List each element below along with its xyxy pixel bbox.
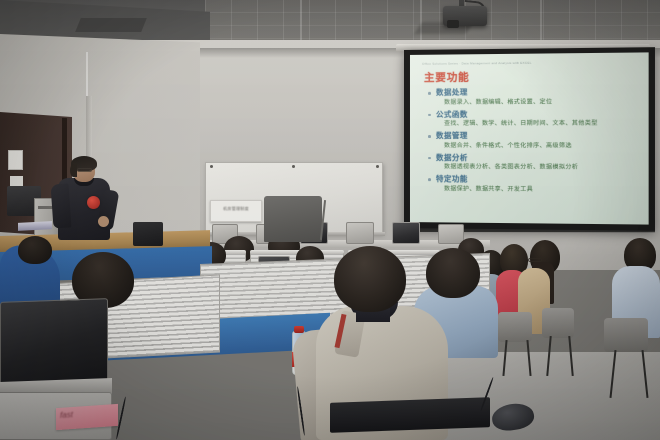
slide-header-text: Office Solutions Series · Data Managemen…	[422, 60, 638, 66]
classroom-photo: Office Solutions Series · Data Managemen…	[0, 0, 660, 440]
projection-screen: Office Solutions Series · Data Managemen…	[404, 47, 655, 231]
slide-section-detail: 数据保护、数据共享、开发工具	[428, 185, 642, 196]
presenter-chair	[264, 196, 322, 242]
slide-section: 公式函数 查找、逻辑、数学、统计、日期时间、文本、其他类型	[428, 109, 642, 130]
podium-second-monitor	[133, 222, 163, 246]
attendee-head	[426, 248, 480, 298]
slide-title: 主要功能	[424, 69, 470, 84]
slide-section-detail: 数据透视表分析、各类图表分析、数据模拟分析	[428, 163, 642, 173]
slide-section-heading: 数据分析	[428, 153, 642, 164]
slide-section-heading: 数据处理	[428, 86, 642, 98]
chair	[542, 308, 574, 338]
slide-section-detail: 数据录入、数据编辑、格式设置、定位	[428, 97, 642, 108]
slide-section-heading: 数据管理	[428, 131, 642, 142]
chair	[498, 312, 532, 342]
monitor-foreground	[0, 298, 108, 386]
monitor-rear	[438, 224, 464, 244]
attendee-head	[18, 236, 52, 264]
slide-section-heading: 特定功能	[428, 174, 642, 186]
bottle-cap	[294, 326, 304, 333]
slide-section-detail: 查找、逻辑、数学、统计、日期时间、文本、其他类型	[428, 119, 642, 129]
slide-section: 数据分析 数据透视表分析、各类图表分析、数据模拟分析	[428, 153, 642, 174]
instructor-hair-side	[70, 164, 77, 177]
instructor-left-arm	[50, 183, 71, 228]
keyboard	[330, 397, 490, 433]
projector-lens-icon	[447, 20, 459, 28]
slide-surface: Office Solutions Series · Data Managemen…	[410, 52, 649, 224]
instructor-badge	[87, 196, 100, 209]
monitor-rear	[346, 222, 374, 244]
instructor-hand	[98, 216, 109, 227]
slide-section: 特定功能 数据保护、数据共享、开发工具	[428, 174, 642, 196]
glasses-icon	[77, 168, 92, 172]
chair	[604, 318, 648, 352]
attendee-foreground-head	[334, 246, 406, 312]
ceiling-vent-icon	[75, 18, 147, 32]
slide-body: 数据处理 数据录入、数据编辑、格式设置、定位 公式函数 查找、逻辑、数学、统计、…	[428, 86, 642, 197]
slide-section-detail: 数据合并、条件格式、个性化排序、高级筛选	[428, 142, 642, 152]
slide-section: 数据处理 数据录入、数据编辑、格式设置、定位	[428, 86, 642, 107]
slide-section: 数据管理 数据合并、条件格式、个性化排序、高级筛选	[428, 131, 642, 152]
podium-sign-text: 机房管理制度	[214, 206, 258, 212]
slide-section-heading: 公式函数	[428, 109, 642, 120]
monitor	[392, 222, 420, 244]
wall-notice-paper	[8, 150, 23, 170]
